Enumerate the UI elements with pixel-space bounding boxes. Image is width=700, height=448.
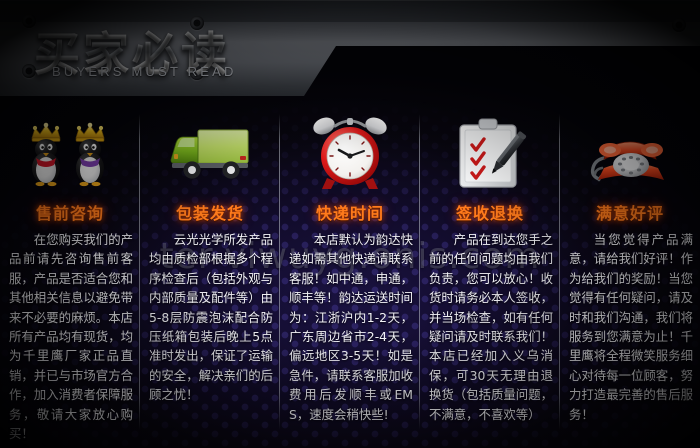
page-subtitle: BUYERS MUST READ	[52, 64, 237, 79]
column-body-text: 产品在到达您手之前的任何问题均由我们负责，您可以放心！收货时请务必本人签收，并当…	[429, 230, 553, 424]
column-title: 包装发货	[140, 200, 280, 224]
column-pre-sale-consultation: 售前咨询 在您购买我们的产品前请先咨询售前客服，产品是否适合您和其他相关信息以避…	[0, 108, 140, 448]
buyers-must-read-banner: 买家必读 BUYERS MUST READ ter-viwuyg.onis.co…	[0, 0, 700, 448]
column-sign-and-return: 签收退换 产品在到达您手之前的任何问题均由我们负责，您可以放心！收货时请务必本人…	[420, 108, 560, 448]
column-title: 快递时间	[280, 200, 420, 224]
column-title: 满意好评	[560, 200, 700, 224]
column-body-text: 当您觉得产品满意，请给我们好评！作为给我们的奖励！当您觉得有任何疑问，请及时和我…	[569, 230, 693, 424]
column-satisfaction-review: 满意好评 当您觉得产品满意，请给我们好评！作为给我们的奖励！当您觉得有任何疑问，…	[560, 108, 700, 448]
column-body-text: 在您购买我们的产品前请先咨询售前客服，产品是否适合您和其他相关信息以避免带来不必…	[9, 230, 133, 443]
green-delivery-truck-icon	[140, 112, 280, 196]
red-rotary-telephone-icon	[560, 112, 700, 196]
column-title: 签收退换	[420, 200, 560, 224]
screw-icon	[672, 18, 686, 32]
qq-penguins-crown-icon	[0, 112, 140, 196]
column-title: 售前咨询	[0, 200, 140, 224]
red-alarm-clock-icon	[280, 112, 420, 196]
info-columns: 售前咨询 在您购买我们的产品前请先咨询售前客服，产品是否适合您和其他相关信息以避…	[0, 108, 700, 448]
column-delivery-time: 快递时间 本店默认为韵达快递如需其他快递请联系客服！如中通，申通，顺丰等！韵达运…	[280, 108, 420, 448]
column-body-text: 本店默认为韵达快递如需其他快递请联系客服！如中通，申通，顺丰等！韵达运送时间为：…	[289, 230, 413, 424]
header-plate: 买家必读 BUYERS MUST READ	[0, 0, 700, 120]
column-body-text: 云光光学所发产品均由质检部根据多个程序检查后（包括外观与内部质量及配件等）由5-…	[149, 230, 273, 405]
clipboard-checklist-pen-icon	[420, 112, 560, 196]
column-packaging-shipping: 包装发货 云光光学所发产品均由质检部根据多个程序检查后（包括外观与内部质量及配件…	[140, 108, 280, 448]
